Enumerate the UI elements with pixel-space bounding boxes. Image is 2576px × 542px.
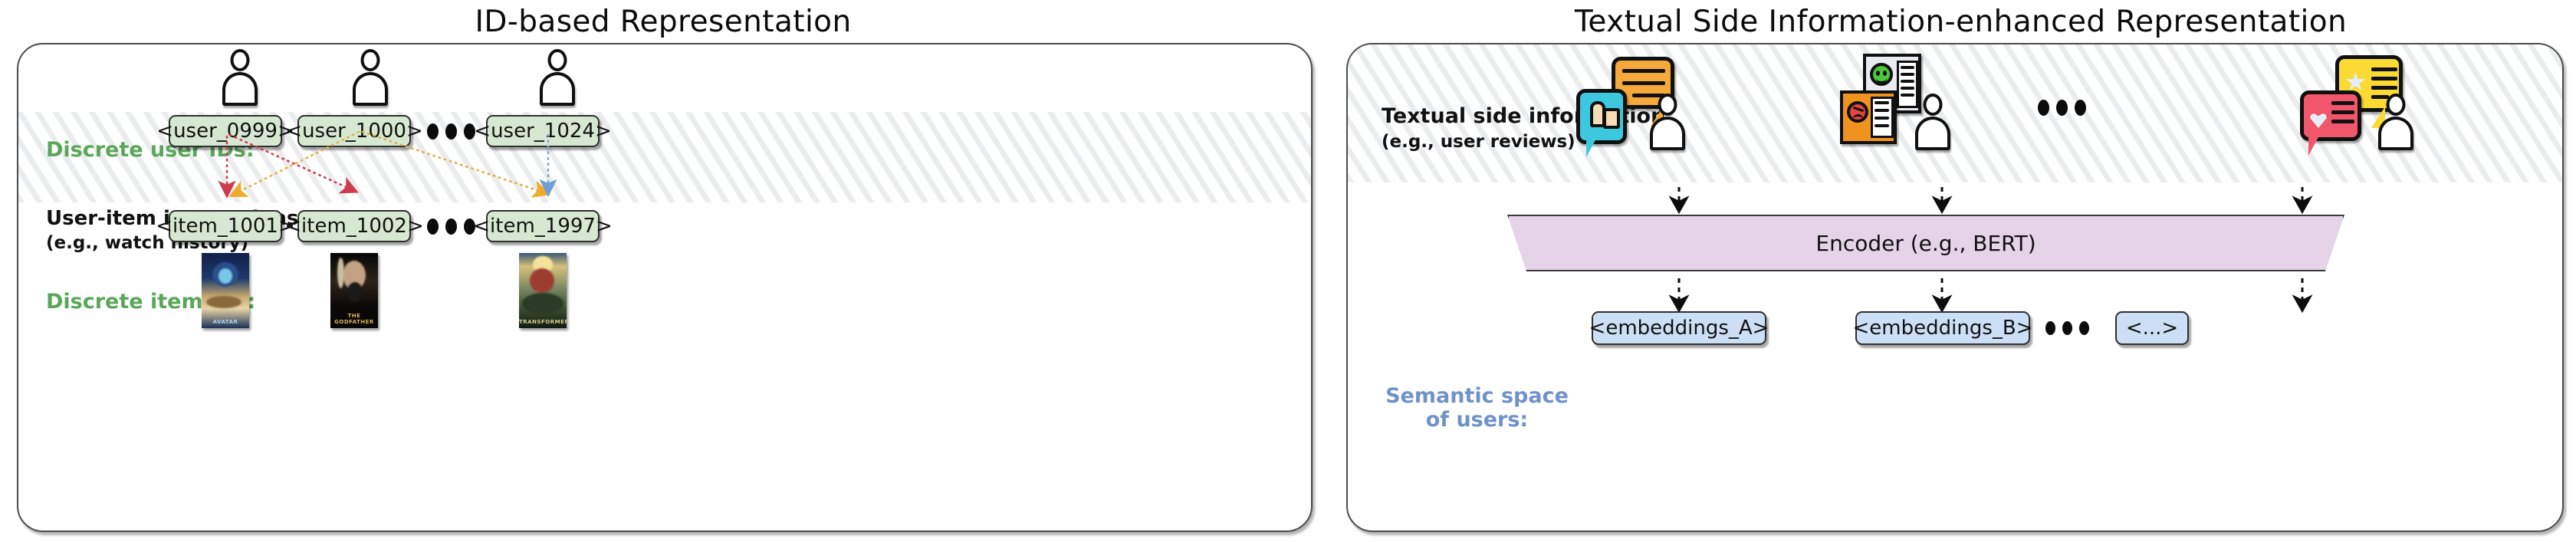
- heart-icon: [2310, 113, 2327, 128]
- diagram-canvas: ID-based Representation Textual Side Inf…: [0, 0, 2576, 542]
- avatar-head: [1658, 94, 1677, 116]
- poster-caption: TRANSFORMERS: [519, 319, 567, 325]
- encoder-block[interactable]: Encoder (e.g., BERT): [1507, 215, 2344, 271]
- item-id-chip[interactable]: <item_1001>: [169, 210, 282, 242]
- user-avatar-icon: [2375, 94, 2417, 152]
- textual-side-info-panel: Textual side information: (e.g., user re…: [1346, 43, 2564, 532]
- embedding-chip[interactable]: <...>: [2115, 311, 2189, 345]
- left-panel-title: ID-based Representation: [0, 5, 1326, 39]
- user-id-chip[interactable]: <user_1024>: [486, 115, 600, 147]
- avatar-poster: AVATAR: [202, 253, 249, 328]
- avatar-body: [1915, 117, 1950, 150]
- semantic-sub-text: of users:: [1426, 408, 1528, 432]
- id-based-representation-panel: Discrete user IDs: User-item interaction…: [17, 43, 1313, 532]
- embedding-chip[interactable]: <embeddings_B>: [1855, 311, 2030, 345]
- semantic-main-text: Semantic space: [1385, 384, 1569, 408]
- review-cluster-1: [1572, 54, 1687, 157]
- textual-side-information-label: Textual side information: (e.g., user re…: [1382, 104, 1573, 153]
- avatar-head: [2387, 94, 2406, 116]
- user-avatar-icon: [537, 49, 578, 107]
- item-id-chip[interactable]: <item_1997>: [486, 210, 600, 242]
- review-cluster-3: [2298, 54, 2413, 157]
- avatar-body: [2378, 117, 2413, 150]
- transformers-poster: TRANSFORMERS: [519, 253, 567, 328]
- user-avatar-icon: [1647, 94, 1688, 152]
- avatar-body: [1650, 117, 1685, 150]
- avatar-body: [222, 72, 258, 106]
- orange-document-sad: [1840, 90, 1897, 144]
- embedding-chip[interactable]: <embeddings_A>: [1592, 311, 1766, 345]
- right-panel-title: Textual Side Information-enhanced Repres…: [1345, 5, 2576, 39]
- godfather-poster: THE GODFATHER: [330, 253, 378, 328]
- avatar-head: [361, 49, 380, 71]
- user-ids-ellipsis: [427, 123, 475, 140]
- textual-sub-text: (e.g., user reviews): [1382, 132, 1573, 153]
- review-clusters-ellipsis: [2038, 100, 2086, 116]
- poster-caption: THE GODFATHER: [330, 313, 378, 325]
- cyan-thumbs-up-bubble: [1576, 89, 1627, 144]
- item-id-chip[interactable]: <item_1002>: [297, 210, 411, 242]
- user-avatar-icon: [350, 49, 391, 107]
- red-heart-bubble: [2300, 90, 2361, 141]
- smiley-face-icon: [1870, 63, 1893, 86]
- sad-face-icon: [1847, 101, 1868, 123]
- semantic-space-label: Semantic space of users:: [1375, 384, 1579, 432]
- avatar-body: [353, 72, 388, 106]
- user-id-chip[interactable]: <user_0999>: [169, 115, 282, 147]
- user-id-chip[interactable]: <user_1000>: [297, 115, 411, 147]
- review-cluster-2: [1832, 52, 1947, 156]
- embeddings-ellipsis: [2045, 321, 2089, 335]
- avatar-head: [231, 49, 250, 71]
- user-avatar-icon: [1912, 94, 1953, 152]
- user-avatar-icon: [219, 49, 261, 107]
- poster-caption: AVATAR: [202, 319, 249, 325]
- star-icon: [2345, 72, 2366, 92]
- item-ids-ellipsis: [427, 218, 475, 235]
- avatar-head: [1924, 94, 1943, 116]
- avatar-body: [540, 72, 575, 106]
- avatar-head: [548, 49, 567, 71]
